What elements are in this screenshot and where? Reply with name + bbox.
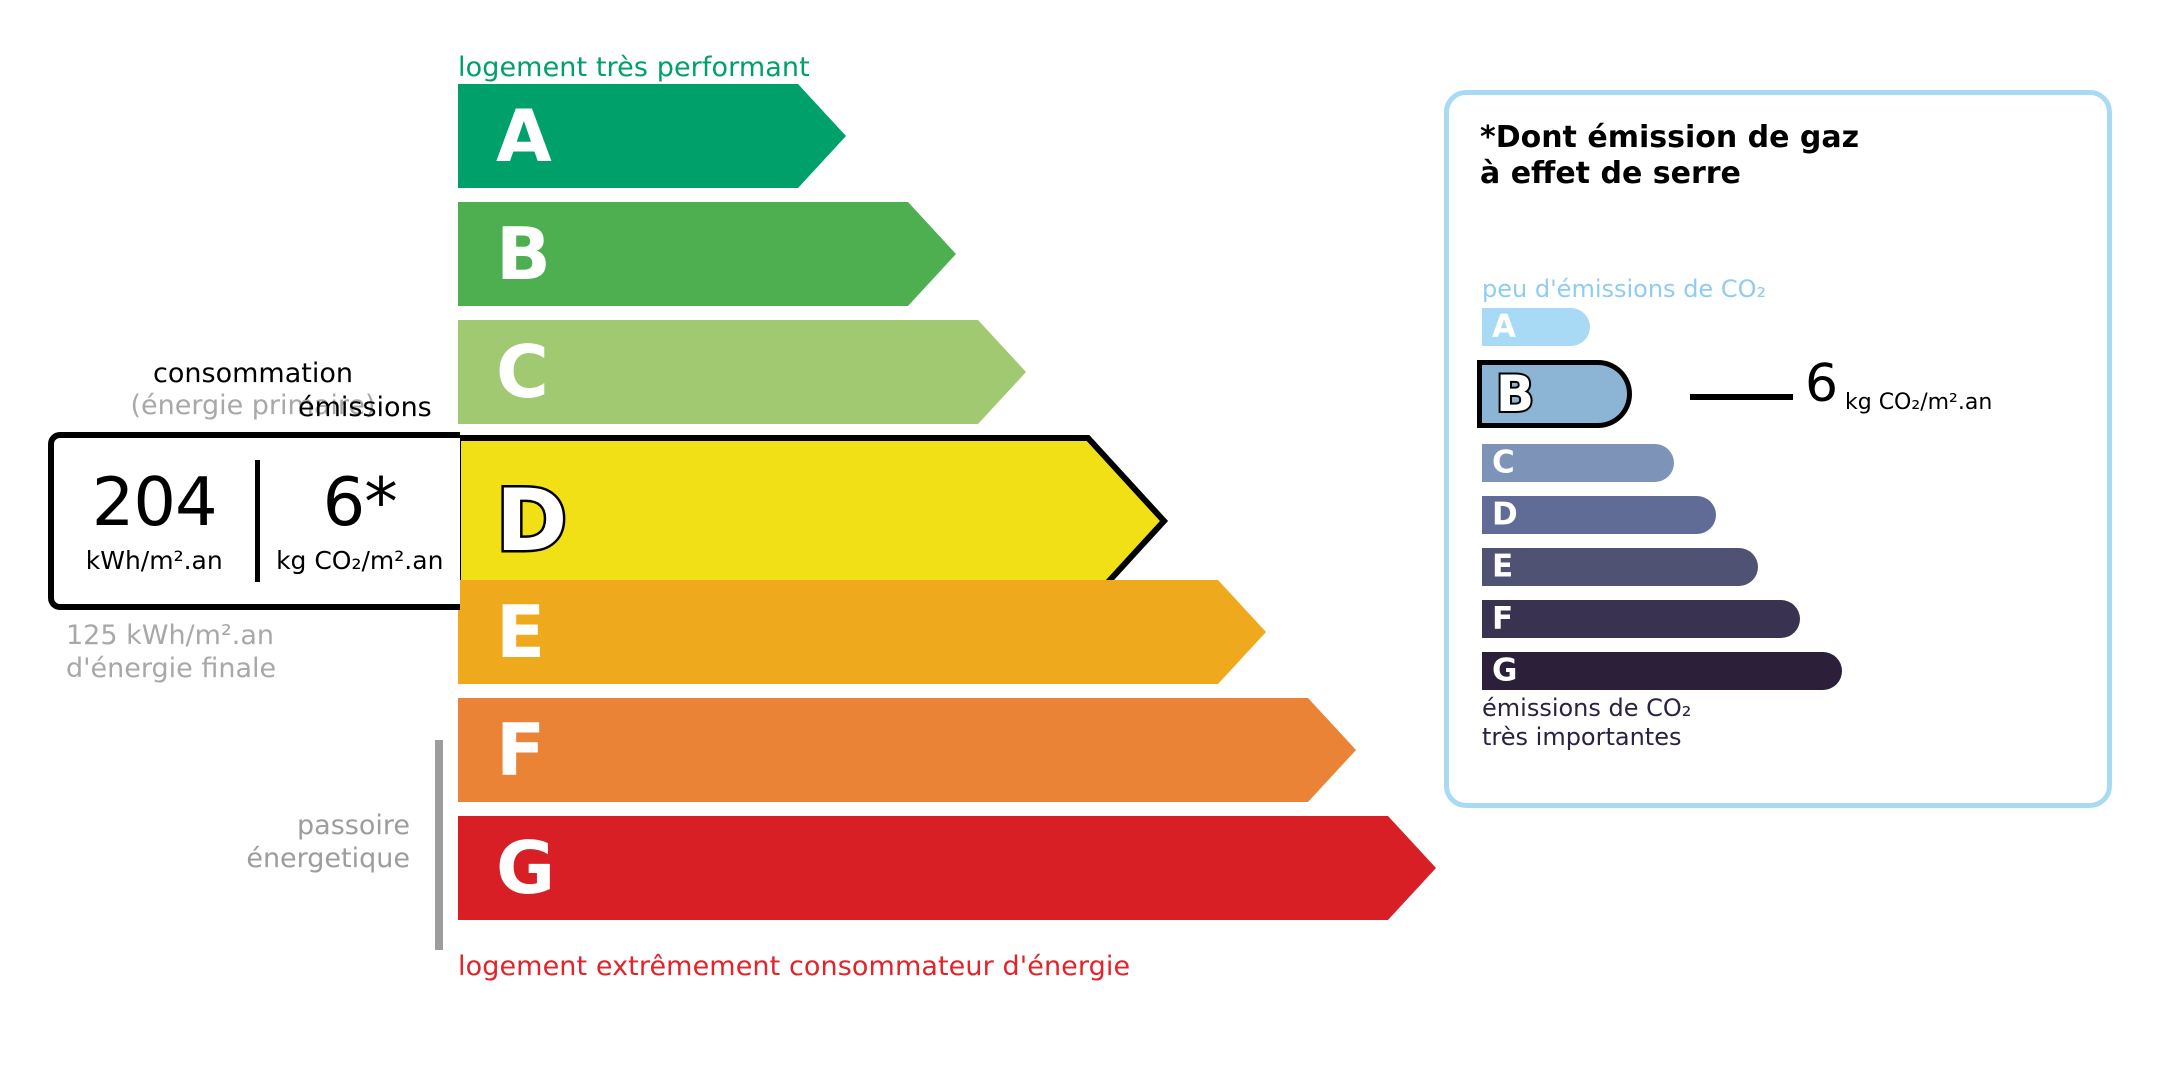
energy-band-c: C bbox=[458, 320, 1026, 424]
co2-bar-row-b: B bbox=[1482, 360, 1632, 428]
energy-band-letter-g: G bbox=[496, 832, 555, 904]
passoire-label-line1: passoire bbox=[190, 810, 410, 843]
co2-bar-letter-f: F bbox=[1492, 604, 1513, 635]
co2-callout-unit: kg CO₂/m².an bbox=[1845, 390, 1992, 415]
co2-bar-letter-g: G bbox=[1492, 656, 1517, 687]
energy-band-letter-e: E bbox=[496, 596, 545, 668]
energy-band-shape-e bbox=[458, 580, 1266, 684]
emissions-value-cell: 6* kg CO₂/m².an bbox=[260, 438, 461, 604]
co2-title-line1: *Dont émission de gaz bbox=[1480, 120, 1859, 156]
co2-bar-a: A bbox=[1482, 308, 1590, 346]
co2-bar-b: B bbox=[1482, 360, 1632, 428]
energy-band-letter-a: A bbox=[496, 100, 552, 172]
energy-band-e: E bbox=[458, 580, 1266, 684]
energy-band-b: B bbox=[458, 202, 956, 306]
final-energy-value: 125 kWh/m².an bbox=[66, 620, 276, 653]
energy-band-letter-d: D bbox=[496, 478, 567, 564]
co2-bar-row-f: F bbox=[1482, 600, 1800, 638]
consumption-value: 204 bbox=[92, 471, 217, 535]
co2-bar-d: D bbox=[1482, 496, 1716, 534]
co2-callout-value: 6 bbox=[1805, 358, 1838, 410]
co2-leader-line bbox=[1690, 394, 1793, 400]
consumption-unit: kWh/m².an bbox=[86, 546, 223, 575]
co2-bar-row-e: E bbox=[1482, 548, 1758, 586]
co2-bar-row-c: C bbox=[1482, 444, 1674, 482]
emissions-value: 6* bbox=[323, 471, 397, 535]
co2-bar-row-a: A bbox=[1482, 308, 1590, 346]
consumption-value-cell: 204 kWh/m².an bbox=[54, 438, 255, 604]
co2-bar-letter-d: D bbox=[1492, 500, 1518, 531]
co2-bar-letter-e: E bbox=[1492, 552, 1513, 583]
emissions-unit: kg CO₂/m².an bbox=[276, 546, 443, 575]
energy-band-g: G bbox=[458, 816, 1436, 920]
co2-bar-c: C bbox=[1482, 444, 1674, 482]
co2-bar-row-g: G bbox=[1482, 652, 1842, 690]
energy-performance-ladder: logement très performant ABCDEFG logemen… bbox=[0, 0, 1400, 1079]
co2-bottom-caption-line1: émissions de CO₂ bbox=[1482, 694, 1691, 723]
co2-top-caption: peu d'émissions de CO₂ bbox=[1482, 275, 1766, 303]
final-energy-note: 125 kWh/m².an d'énergie finale bbox=[66, 620, 276, 686]
energy-band-shape-g bbox=[458, 816, 1436, 920]
energy-top-caption: logement très performant bbox=[458, 52, 810, 83]
co2-bar-letter-a: A bbox=[1492, 312, 1516, 343]
passoire-indicator-bar bbox=[435, 740, 443, 950]
energy-band-letter-b: B bbox=[496, 218, 551, 290]
co2-bar-letter-b: B bbox=[1496, 369, 1534, 419]
co2-bottom-caption: émissions de CO₂ très importantes bbox=[1482, 694, 1691, 753]
co2-bar-f: F bbox=[1482, 600, 1800, 638]
co2-title-line2: à effet de serre bbox=[1480, 156, 1859, 192]
energy-band-f: F bbox=[458, 698, 1356, 802]
energy-band-letter-f: F bbox=[496, 714, 545, 786]
energy-band-a: A bbox=[458, 84, 846, 188]
energy-bottom-caption: logement extrêmement consommateur d'éner… bbox=[458, 951, 1130, 982]
emissions-label: émissions bbox=[298, 392, 432, 423]
passoire-label-line2: énergetique bbox=[190, 843, 410, 876]
energy-band-letter-c: C bbox=[496, 336, 549, 408]
co2-panel-title: *Dont émission de gaz à effet de serre bbox=[1480, 120, 1859, 192]
value-box: 204 kWh/m².an 6* kg CO₂/m².an bbox=[48, 432, 460, 610]
energy-band-shape-f bbox=[458, 698, 1356, 802]
co2-bar-letter-c: C bbox=[1492, 448, 1515, 479]
consumption-label: consommation bbox=[68, 358, 438, 390]
co2-bar-g: G bbox=[1482, 652, 1842, 690]
co2-bar-e: E bbox=[1482, 548, 1758, 586]
co2-bottom-caption-line2: très importantes bbox=[1482, 723, 1691, 752]
dpe-figure: logement très performant ABCDEFG logemen… bbox=[0, 0, 2170, 1079]
passoire-label: passoire énergetique bbox=[190, 810, 410, 876]
co2-bar-row-d: D bbox=[1482, 496, 1716, 534]
final-energy-label: d'énergie finale bbox=[66, 653, 276, 686]
